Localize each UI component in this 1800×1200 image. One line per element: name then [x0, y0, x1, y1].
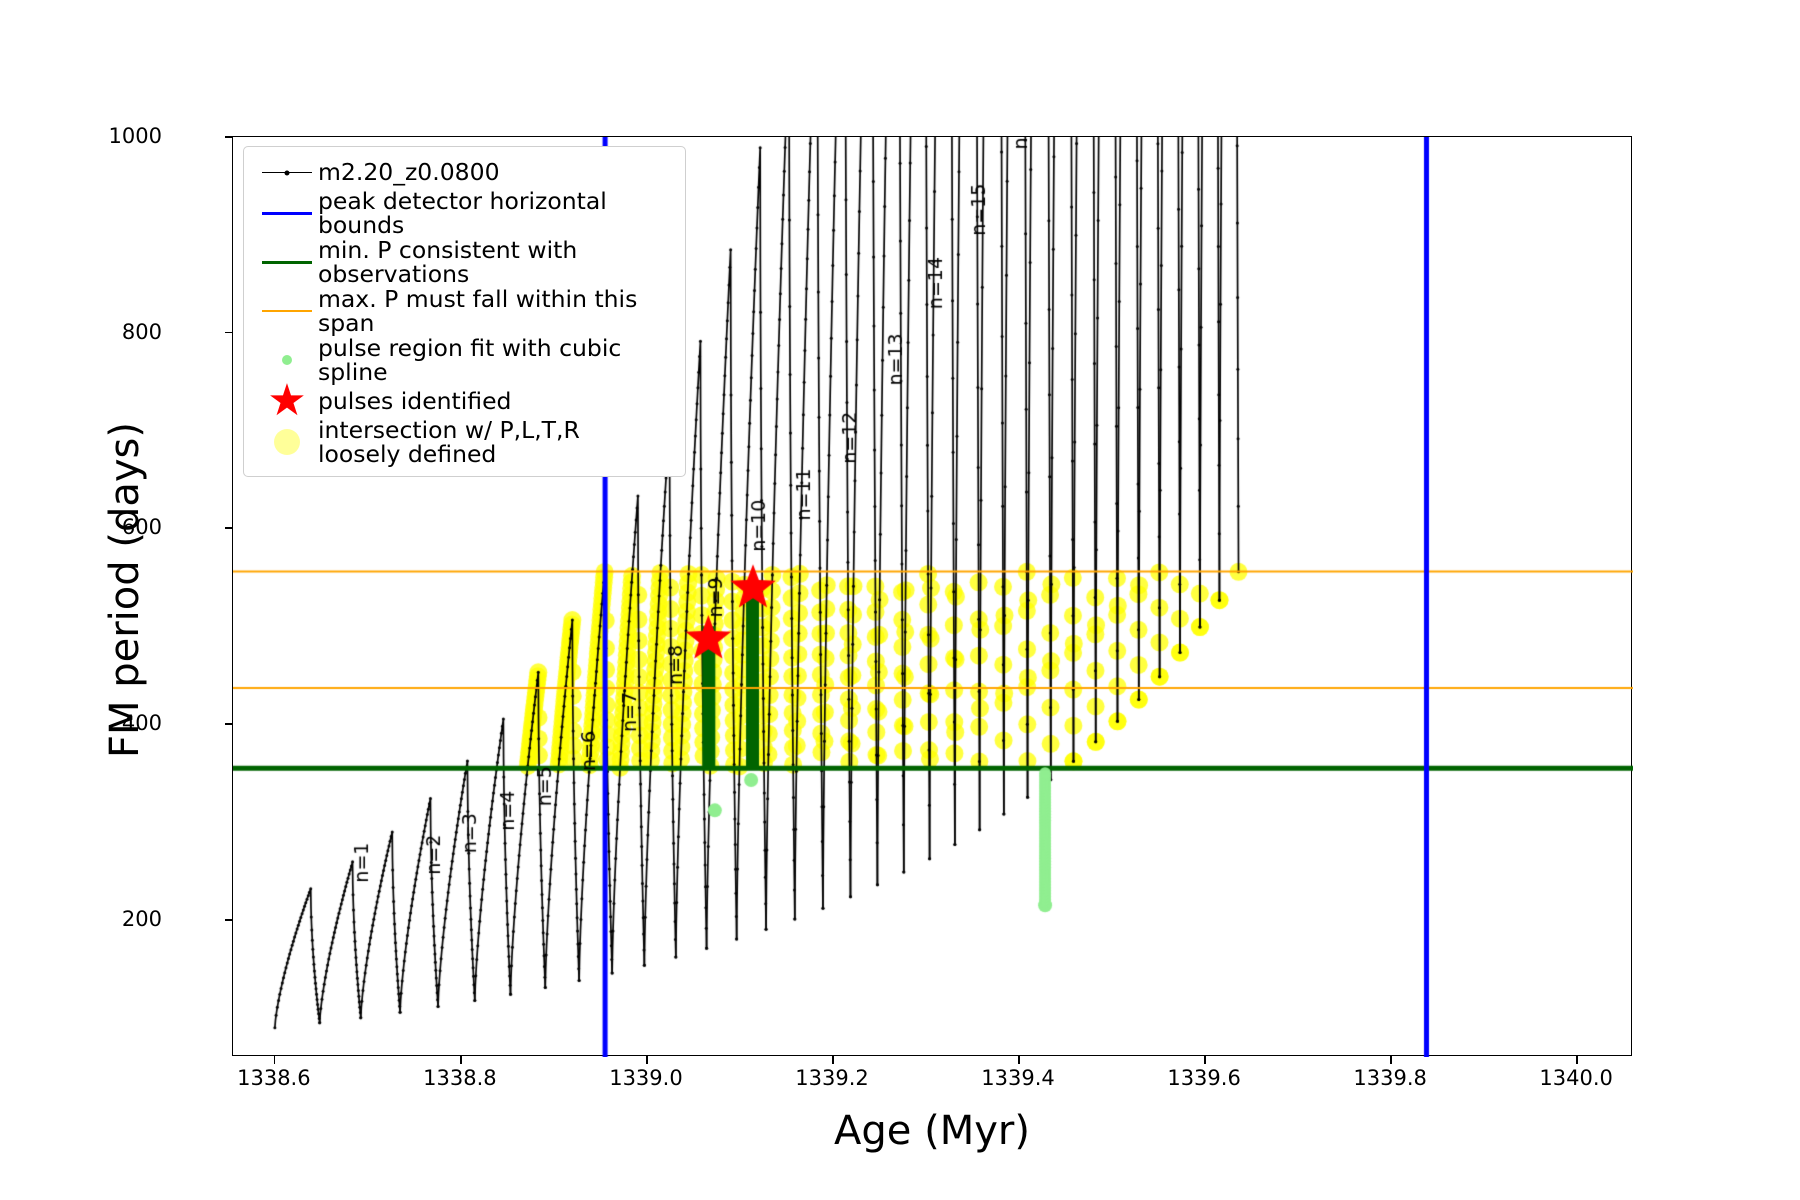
- legend-entry-pulses[interactable]: ★ pulses identified: [256, 385, 673, 418]
- y-tick-text: 600: [42, 515, 162, 539]
- x-tick-mark: [1204, 1056, 1206, 1064]
- y-axis-title: FM period (days): [95, 140, 155, 1040]
- legend-entry-max-span[interactable]: max. P must fall within this span: [256, 287, 673, 336]
- legend: m2.20_z0.0800 peak detector horizontal b…: [243, 146, 686, 477]
- x-tick-label: 1339.4: [948, 1066, 1088, 1090]
- y-tick-label: 1000: [42, 136, 162, 160]
- legend-label-min-period: min. P consistent with observations: [318, 238, 673, 287]
- x-tick-label: 1339.2: [762, 1066, 902, 1090]
- x-tick-mark: [274, 1056, 276, 1064]
- y-tick-mark: [225, 136, 233, 138]
- y-tick-text: 1000: [42, 124, 162, 148]
- legend-label-series: m2.20_z0.0800: [318, 160, 500, 184]
- y-tick-label: 600: [42, 527, 162, 551]
- legend-label-spline: pulse region fit with cubic spline: [318, 336, 673, 385]
- legend-entry-spline[interactable]: pulse region fit with cubic spline: [256, 336, 673, 385]
- legend-entry-min-period[interactable]: min. P consistent with observations: [256, 238, 673, 287]
- x-tick-label: 1339.0: [576, 1066, 716, 1090]
- y-tick-label: 800: [42, 332, 162, 356]
- y-tick-text: 400: [42, 711, 162, 735]
- red-star-icon: ★: [256, 386, 318, 416]
- legend-label-pulses: pulses identified: [318, 389, 511, 413]
- y-tick-text: 200: [42, 907, 162, 931]
- x-tick-mark: [1390, 1056, 1392, 1064]
- yellow-dot-icon: [256, 427, 318, 457]
- y-tick-mark: [225, 919, 233, 921]
- x-tick-label: 1338.8: [390, 1066, 530, 1090]
- y-tick-text: 800: [42, 320, 162, 344]
- x-tick-mark: [832, 1056, 834, 1064]
- green-line-icon: [256, 247, 318, 277]
- legend-label-peak-bounds: peak detector horizontal bounds: [318, 189, 673, 238]
- y-tick-label: 200: [42, 919, 162, 943]
- legend-label-max-span: max. P must fall within this span: [318, 287, 673, 336]
- legend-entry-series[interactable]: m2.20_z0.0800: [256, 156, 673, 189]
- x-tick-mark: [646, 1056, 648, 1064]
- y-tick-mark: [225, 332, 233, 334]
- y-axis-title-text: FM period (days): [102, 422, 148, 758]
- x-tick-mark: [1576, 1056, 1578, 1064]
- legend-label-intersection: intersection w/ P,L,T,R loosely defined: [318, 418, 580, 467]
- x-tick-label: 1339.6: [1134, 1066, 1274, 1090]
- y-tick-mark: [225, 527, 233, 529]
- blue-line-icon: [256, 198, 318, 228]
- x-axis-title: Age (Myr): [232, 1108, 1632, 1154]
- x-tick-mark: [460, 1056, 462, 1064]
- y-tick-label: 400: [42, 723, 162, 747]
- black-line-marker-icon: [256, 158, 318, 188]
- x-tick-label: 1339.8: [1320, 1066, 1460, 1090]
- green-dot-icon: [256, 345, 318, 375]
- y-tick-mark: [225, 723, 233, 725]
- figure-root: FM period (days) Age (Myr) m2.20_z0.0800…: [0, 0, 1800, 1200]
- x-tick-label: 1340.0: [1506, 1066, 1646, 1090]
- legend-entry-intersection[interactable]: intersection w/ P,L,T,R loosely defined: [256, 418, 673, 467]
- x-tick-label: 1338.6: [204, 1066, 344, 1090]
- legend-entry-peak-bounds[interactable]: peak detector horizontal bounds: [256, 189, 673, 238]
- orange-line-icon: [256, 296, 318, 326]
- x-tick-mark: [1018, 1056, 1020, 1064]
